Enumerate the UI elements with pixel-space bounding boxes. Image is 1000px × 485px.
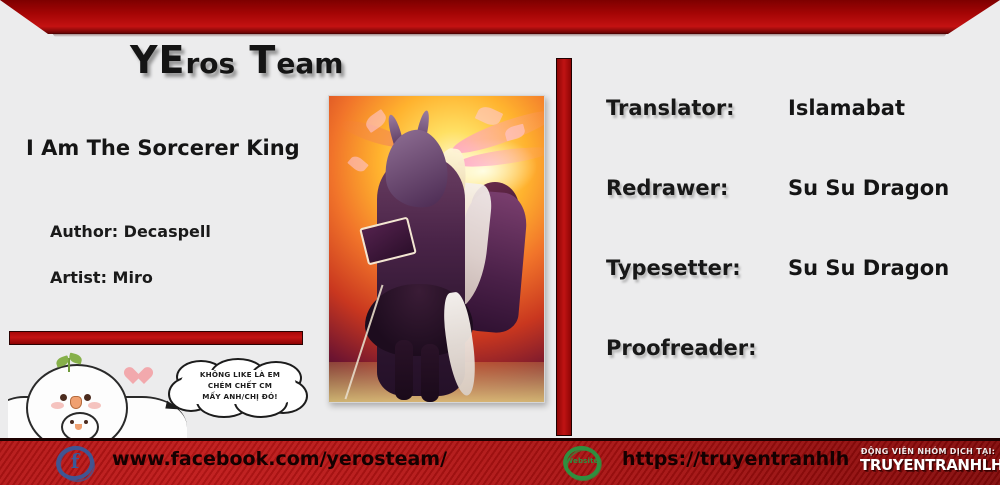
credit-value: Su Su Dragon bbox=[788, 176, 949, 200]
red-divider-rule bbox=[9, 331, 303, 345]
credit-value: Islamabat bbox=[788, 96, 905, 120]
mascot-baby-eye-left bbox=[70, 420, 74, 424]
speech-bubble: KHÔNG LIKE LÀ EM CHÉM CHẾT CM MẤY ANH/CH… bbox=[166, 358, 308, 414]
website-icon-label: Website bbox=[563, 457, 601, 465]
team-name-title: YEros Team bbox=[130, 38, 343, 82]
cover-leg-left bbox=[395, 340, 413, 400]
team-name-part-ye: YE bbox=[130, 38, 185, 82]
credit-label: Proofreader: bbox=[606, 336, 757, 360]
team-name-part-eam: eam bbox=[276, 47, 343, 80]
bubble-tail bbox=[165, 401, 180, 412]
credit-row-proofreader: Proofreader: bbox=[606, 336, 996, 416]
series-cover-image bbox=[328, 95, 545, 403]
website-icon[interactable]: Website bbox=[563, 446, 601, 480]
mascot-eye-right bbox=[84, 394, 91, 401]
website-url-link[interactable]: https://truyentranhlh bbox=[622, 448, 849, 470]
bubble-text-line3: MẤY ANH/CHỊ ĐÓ! bbox=[182, 391, 298, 402]
mascot-baby-eye-right bbox=[84, 420, 88, 424]
sprout-leaf-right-icon bbox=[68, 353, 83, 365]
series-author: Author: Decaspell bbox=[50, 222, 211, 241]
credit-label: Translator: bbox=[606, 96, 735, 120]
credit-value: Su Su Dragon bbox=[788, 256, 949, 280]
mascot-blush-right bbox=[88, 402, 101, 409]
facebook-url-link[interactable]: www.facebook.com/yerosteam/ bbox=[112, 448, 447, 470]
credits-list: Translator: Islamabat Redrawer: Su Su Dr… bbox=[606, 96, 996, 416]
top-banner-shadow bbox=[0, 33, 1000, 37]
watermark-main-text: TRUYENTRANHLH.NET bbox=[860, 457, 996, 474]
credits-page: YEros Team I Am The Sorcerer King Author… bbox=[0, 0, 1000, 485]
team-name-part-t: T bbox=[235, 38, 276, 82]
credit-label: Redrawer: bbox=[606, 176, 728, 200]
mascot-beak bbox=[70, 396, 82, 409]
facebook-f-glyph: f bbox=[56, 449, 94, 473]
series-title: I Am The Sorcerer King bbox=[26, 136, 300, 160]
series-artist: Artist: Miro bbox=[50, 268, 153, 287]
credit-row-redrawer: Redrawer: Su Su Dragon bbox=[606, 176, 996, 256]
cover-leg-right bbox=[421, 344, 439, 402]
heart-icon bbox=[124, 368, 144, 386]
bubble-text-line2: CHÉM CHẾT CM bbox=[182, 380, 298, 391]
credit-row-typesetter: Typesetter: Su Su Dragon bbox=[606, 256, 996, 336]
mascot-baby-beak bbox=[75, 424, 82, 430]
mascot-eye-left bbox=[60, 394, 67, 401]
credit-label: Typesetter: bbox=[606, 256, 741, 280]
vertical-red-divider bbox=[556, 58, 572, 436]
top-red-banner bbox=[0, 0, 1000, 34]
bubble-text: KHÔNG LIKE LÀ EM CHÉM CHẾT CM MẤY ANH/CH… bbox=[182, 369, 298, 402]
credit-row-translator: Translator: Islamabat bbox=[606, 96, 996, 176]
mascot-blush-left bbox=[51, 402, 64, 409]
facebook-icon[interactable]: f bbox=[56, 446, 94, 480]
team-name-part-ros: ros bbox=[185, 47, 235, 80]
watermark: ĐỘNG VIÊN NHÓM DỊCH TẠI: TRUYENTRANHLH.N… bbox=[860, 446, 996, 474]
bubble-text-line1: KHÔNG LIKE LÀ EM bbox=[182, 369, 298, 380]
